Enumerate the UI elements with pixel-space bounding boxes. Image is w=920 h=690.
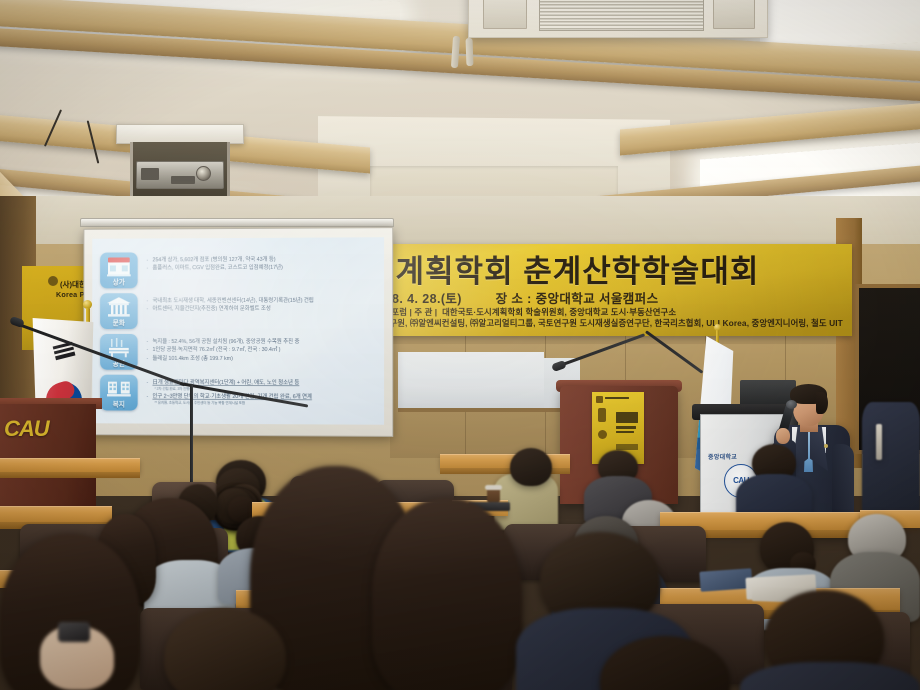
banner-org-list: 대한국토·도시계획학회 학술위원회, 중앙대학교 도시·부동산연구소 <box>442 307 676 317</box>
phone-device <box>58 622 90 642</box>
slide-bullet: 홈플러스, 이마트, CGV 입점완료, 코스트코 입점예정(17년) <box>146 264 378 273</box>
banner-place: 장 소 : 중앙대학교 서울캠퍼스 <box>496 292 659 306</box>
poster-text-line <box>605 397 629 399</box>
slide-tile-museum: 문화 <box>100 293 137 329</box>
slide-tile-label: 문화 <box>113 317 125 327</box>
slide-bullet: 1인당 공원·녹지면적 76.2㎡ (전국 : 9.7㎡, 전국 : 30.4㎡… <box>146 346 378 355</box>
speaker-hair-side <box>816 392 828 414</box>
ac-grille-icon <box>539 0 704 31</box>
poster-title-block <box>616 412 638 423</box>
front-desk-logo: CAU <box>4 416 49 442</box>
poster-sub-block-2 <box>616 431 634 433</box>
slide-tile-label: 상가 <box>113 276 125 286</box>
ac-vane-left <box>483 0 527 29</box>
standing-attendee <box>862 402 920 512</box>
poster-sub-block <box>616 426 636 429</box>
slide-bullets: 日개 생활권마다 광역복지센터(1단계) + 어린, 애도, 노인 청소년 등 … <box>146 375 378 407</box>
projector-lens-icon <box>196 166 211 181</box>
banner-sponsors-line: 서울연구원, ㈜알엔씨컨설팅, ㈜알고리얼티그룹, 국토연구원 도시재생실증연구… <box>366 317 843 329</box>
banner-date-place: 2018. 4. 28.(토) 장 소 : 중앙대학교 서울캠퍼스 <box>370 288 658 307</box>
projector-port <box>171 176 195 184</box>
slide-bullet-note: ** 유치원, 초등학교, 도서관, 주민센터 등 기능 복합 연계시설 포함 <box>146 401 378 407</box>
slide-bullet: 국내최초 도시재생 대학, 세종컨벤션센터(14년), 대통령기록관(15년) … <box>146 297 378 306</box>
slide-row: 공원 녹지율 : 52.4%, 56개 공원 설치됨 (96개), 중앙공원 수… <box>100 334 378 370</box>
slide-bullet: 녹지율 : 52.4%, 56개 공원 설치됨 (96개), 중앙공원 수목원 … <box>146 338 378 347</box>
slide-tile-welfare: 복지 <box>100 375 137 411</box>
presentation-slide: 상가 254개 상가, 5,602개 점포 (병의원 127개, 약국 43개 … <box>92 237 384 425</box>
banner-title: 시계획학회 춘계산학학술대회 <box>366 246 759 291</box>
school-icon <box>106 378 132 400</box>
standing-attendee-badge <box>876 424 882 460</box>
ceiling-ac-cassette <box>468 0 768 38</box>
slide-bullets: 녹지율 : 52.4%, 56개 공원 설치됨 (96개), 중앙공원 수목원 … <box>146 334 378 363</box>
event-banner: 시계획학회 춘계산학학술대회 2018. 4. 28.(토) 장 소 : 중앙대… <box>352 244 852 336</box>
audience-area <box>0 440 920 690</box>
poster-glyph-icon <box>598 408 606 422</box>
storefront-icon <box>106 255 132 277</box>
slide-bullets: 254개 상가, 5,602개 점포 (병의원 127개, 약국 43개 등) … <box>146 251 378 273</box>
desk-row <box>0 458 140 472</box>
projection-screen-roller <box>80 218 394 227</box>
museum-icon <box>106 296 132 318</box>
slide-tile-label: 복지 <box>113 399 125 409</box>
banner-org-tag: | 주 관 | <box>409 307 437 317</box>
slide-row: 상가 254개 상가, 5,602개 점포 (병의원 127개, 약국 43개 … <box>100 251 378 288</box>
projector-vent <box>141 168 159 180</box>
projection-screen: 상가 254개 상가, 5,602개 점포 (병의원 127개, 약국 43개 … <box>83 227 393 437</box>
poster-crescent-icon <box>598 430 607 439</box>
ac-drain-pipe-2 <box>466 38 474 66</box>
slide-bullet: 아트센터, 지을건단지(추진중) 연계하여 문화벨트 조성 <box>146 305 378 314</box>
desk-row-edge <box>0 472 140 478</box>
microphone-grille-icon <box>786 400 797 409</box>
projector-lift-housing <box>116 124 244 144</box>
slide-bullet: 둘레길 101.4km 조성 (총 199.7 km) <box>146 355 378 364</box>
desk-row <box>0 506 112 522</box>
poster-logo-icon <box>596 396 603 403</box>
audience-foreground-long-hair-2 <box>372 498 522 690</box>
society-logo-icon <box>48 276 58 286</box>
lecture-hall-photo: 시계획학회 춘계산학학술대회 2018. 4. 28.(토) 장 소 : 중앙대… <box>0 0 920 690</box>
audience-head <box>510 448 552 486</box>
whiteboard <box>398 352 544 412</box>
slide-row: 문화 국내최초 도시재생 대학, 세종컨벤션센터(14년), 대통령기록관(15… <box>100 293 378 329</box>
coffee-cup-lid <box>485 485 502 490</box>
slide-tile-storefront: 상가 <box>100 252 137 288</box>
ac-vane-right <box>713 0 755 29</box>
wall-shadow-band <box>352 336 852 344</box>
slide-bullets: 국내최초 도시재생 대학, 세종컨벤션센터(14년), 대통령기록관(15년) … <box>146 293 378 314</box>
